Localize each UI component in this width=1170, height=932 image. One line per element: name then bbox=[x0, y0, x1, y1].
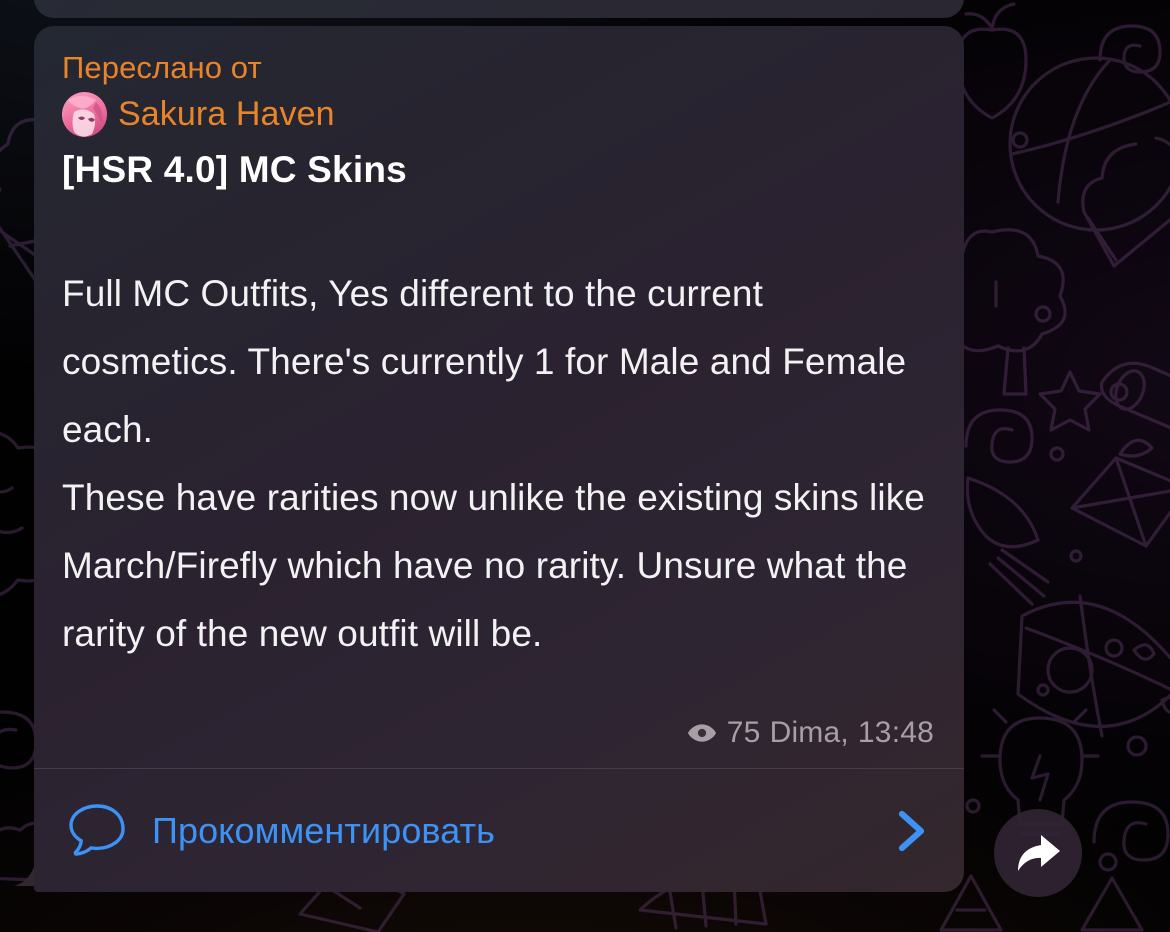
message-body: Переслано от bbox=[34, 26, 964, 768]
message-title: [HSR 4.0] MC Skins bbox=[62, 149, 936, 190]
view-count: 75 bbox=[727, 716, 761, 750]
chevron-right-icon bbox=[894, 809, 928, 853]
comment-bubble-icon bbox=[66, 802, 128, 860]
avatar[interactable] bbox=[62, 92, 107, 137]
forwarded-from-label: Переслано от bbox=[62, 52, 936, 83]
telegram-chat-screen: Переслано от bbox=[0, 0, 1170, 932]
comment-button[interactable]: Прокомментировать bbox=[34, 769, 964, 892]
message-meta: 75 Dima, 13:48 bbox=[686, 716, 934, 750]
message-time: 13:48 bbox=[858, 716, 934, 750]
forward-button[interactable] bbox=[994, 809, 1082, 897]
eye-icon bbox=[686, 717, 718, 749]
message-text: Full MC Outfits, Yes different to the cu… bbox=[62, 260, 936, 668]
forwarded-source-row[interactable]: Sakura Haven bbox=[62, 92, 936, 137]
previous-message-bubble[interactable] bbox=[34, 0, 964, 18]
forward-arrow-icon bbox=[1015, 832, 1061, 874]
message-spacer bbox=[62, 190, 936, 260]
message-text-wrapper: Full MC Outfits, Yes different to the cu… bbox=[62, 260, 936, 668]
author-signature: Dima, bbox=[770, 716, 849, 750]
forwarded-channel-name[interactable]: Sakura Haven bbox=[118, 97, 335, 133]
comment-button-label: Прокомментировать bbox=[152, 810, 894, 852]
forwarded-message-bubble[interactable]: Переслано от bbox=[34, 26, 964, 892]
